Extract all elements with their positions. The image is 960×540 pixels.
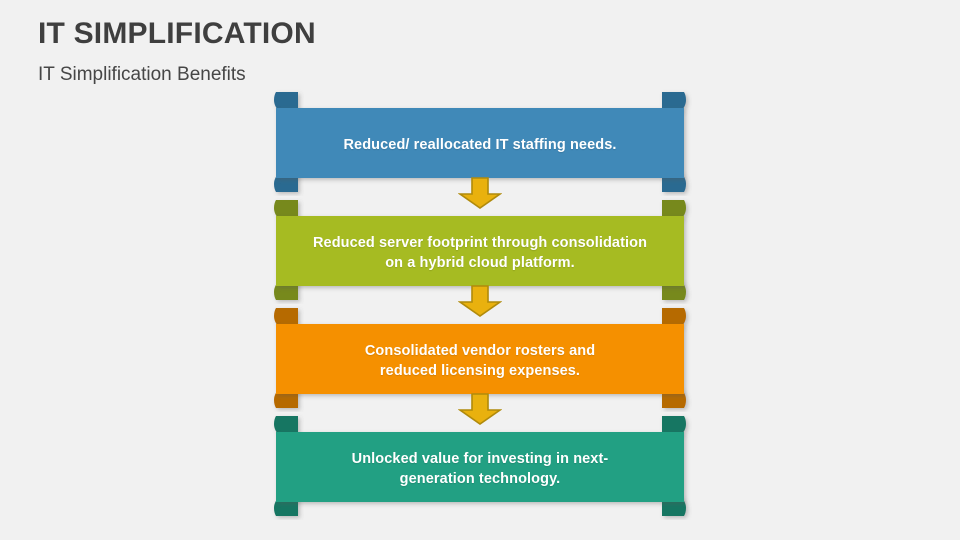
slide-heading: IT SIMPLIFICATION IT Simplification Bene… <box>38 16 658 88</box>
slide-canvas: IT SIMPLIFICATION IT Simplification Bene… <box>0 0 960 540</box>
ribbon-shape-4 <box>262 412 698 520</box>
page-title: IT SIMPLIFICATION <box>38 16 658 52</box>
ribbon-flow-diagram: Reduced/ reallocated IT staffing needs.R… <box>262 88 698 536</box>
flow-step-4[interactable]: Unlocked value for investing in next- ge… <box>262 412 698 520</box>
page-subtitle: IT Simplification Benefits <box>38 62 658 88</box>
